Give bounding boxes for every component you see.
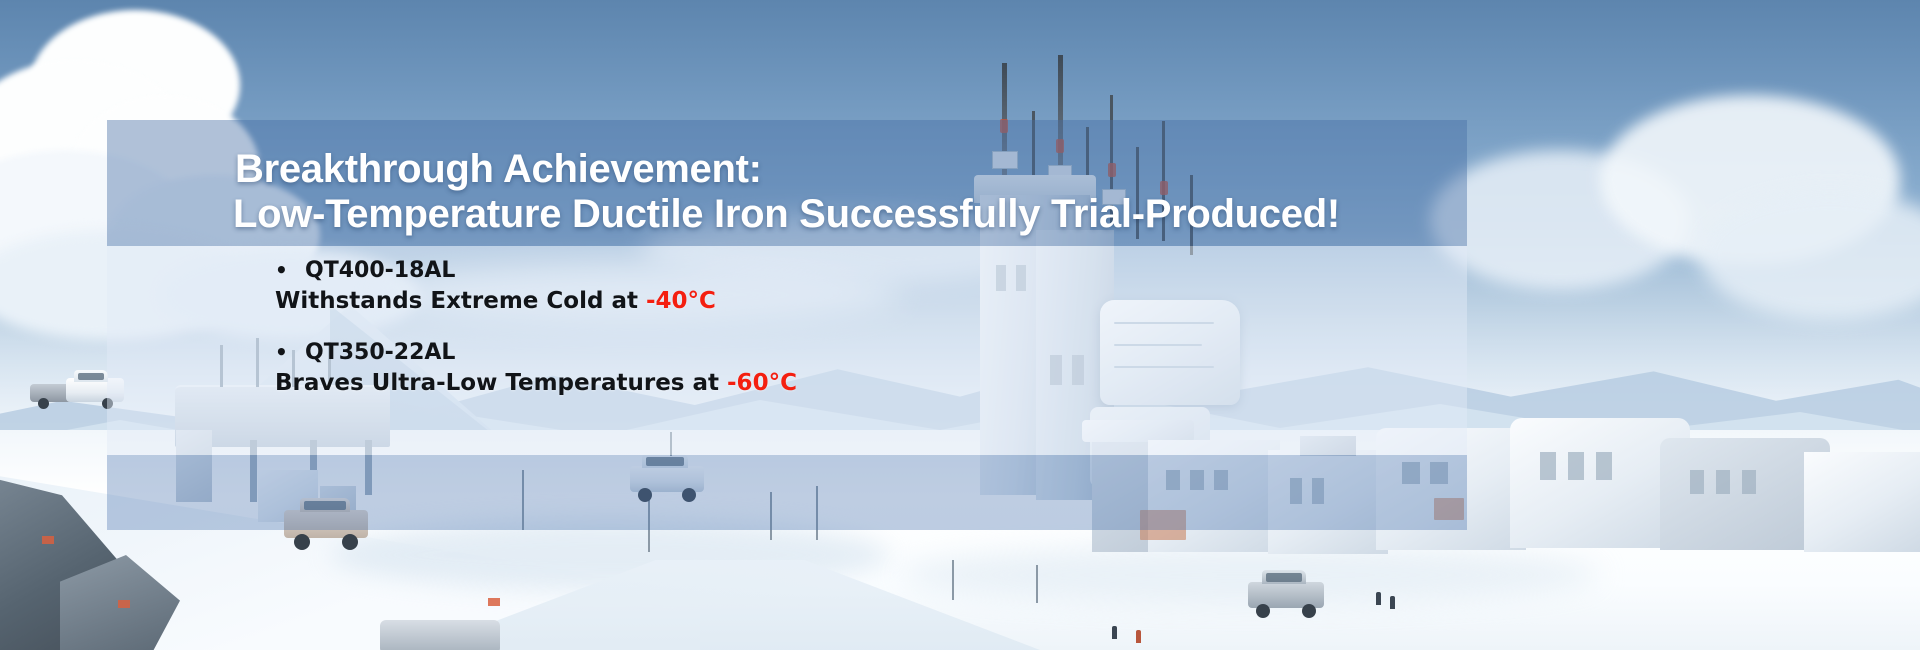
headline-line-2: Low-Temperature Ductile Iron Successfull…	[233, 192, 1467, 237]
bullet-grade-label: QT350-22AL	[305, 340, 455, 365]
bullet-grade-label: QT400-18AL	[305, 258, 455, 283]
bullet-marker-icon: •	[275, 337, 305, 367]
headline-line-1: Breakthrough Achievement:	[235, 147, 762, 191]
list-item: •QT350-22AL Braves Ultra-Low Temperature…	[107, 337, 1467, 399]
bullet-temperature-value: -40°C	[646, 288, 716, 314]
bullet-description-row: Braves Ultra-Low Temperatures at-60°C	[107, 368, 1467, 399]
bullet-grade-row: •QT400-18AL	[107, 255, 1467, 286]
bullet-grade-row: •QT350-22AL	[107, 337, 1467, 368]
bullet-marker-icon: •	[275, 255, 305, 285]
page-title: Breakthrough Achievement: Low-Temperatur…	[107, 147, 1467, 237]
bullet-description-text: Braves Ultra-Low Temperatures at	[275, 370, 719, 396]
bullet-temperature-value: -60°C	[727, 370, 797, 396]
bullet-description-text: Withstands Extreme Cold at	[275, 288, 638, 314]
feature-list: •QT400-18AL Withstands Extreme Cold at-4…	[107, 255, 1467, 419]
promotional-banner: Breakthrough Achievement: Low-Temperatur…	[0, 0, 1920, 650]
footer-overlay-panel	[107, 455, 1467, 530]
list-item: •QT400-18AL Withstands Extreme Cold at-4…	[107, 255, 1467, 317]
bullet-description-row: Withstands Extreme Cold at-40°C	[107, 286, 1467, 317]
